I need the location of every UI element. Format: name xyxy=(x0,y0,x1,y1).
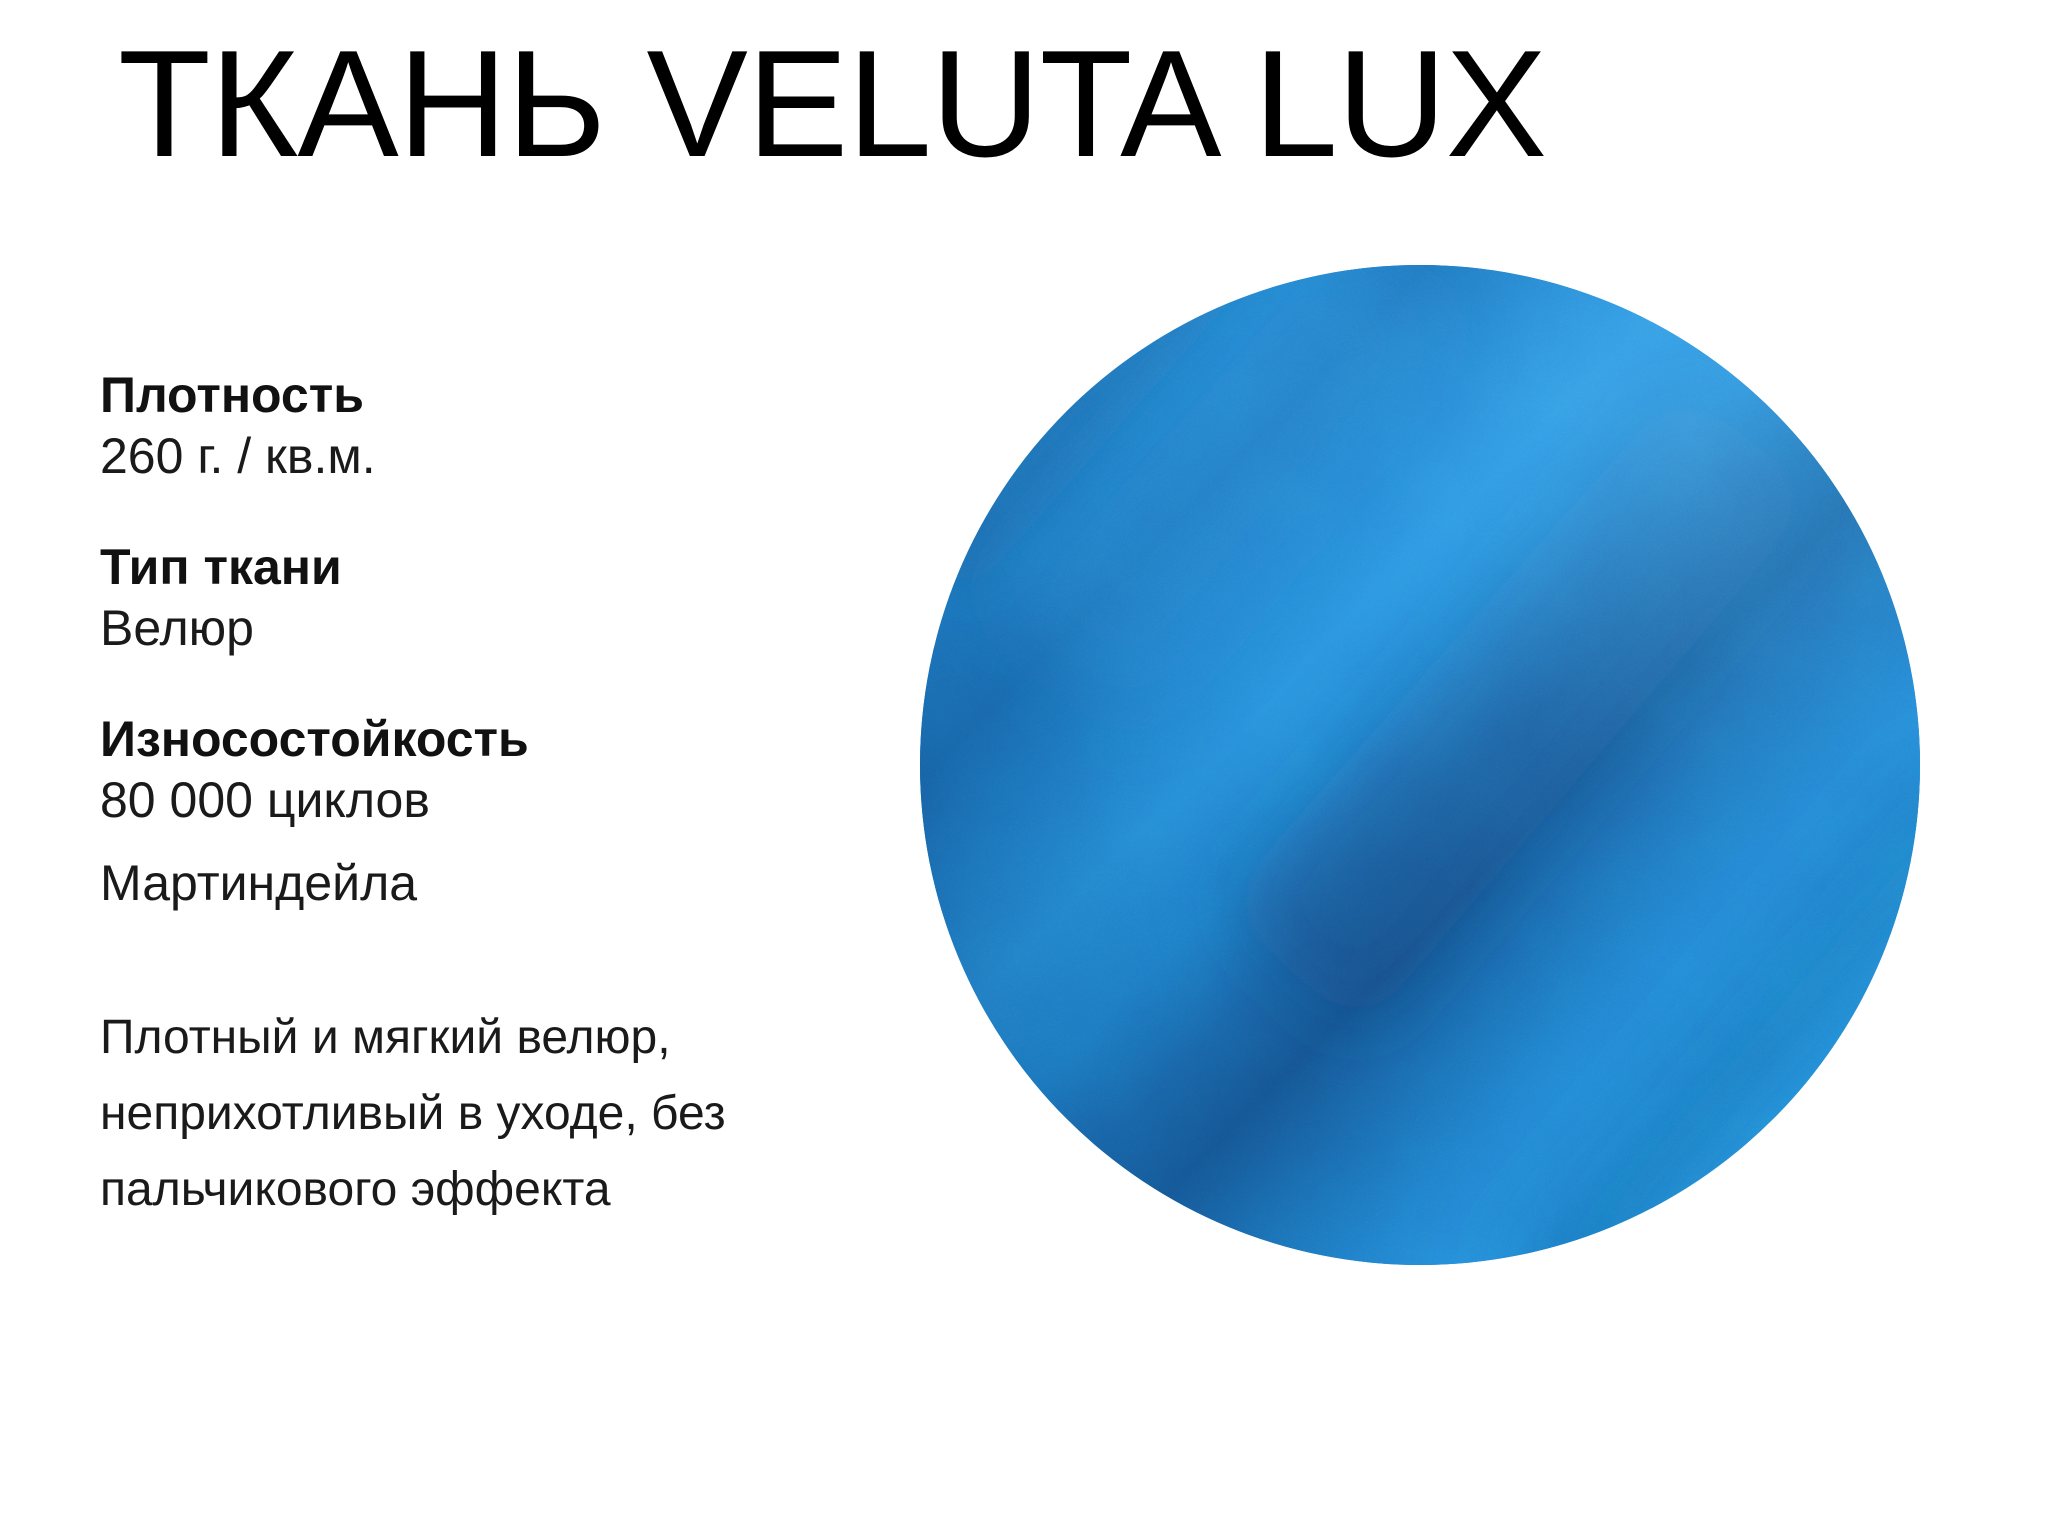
spec-label-fabric-type: Тип ткани xyxy=(100,537,860,598)
fabric-texture-graphic xyxy=(920,265,1920,1265)
spec-label-density: Плотность xyxy=(100,365,860,426)
page-title: ТКАНЬ VELUTA LUX xyxy=(118,28,1546,180)
spec-value-fabric-type: Велюр xyxy=(100,598,860,659)
fabric-description: Плотный и мягкий велюр, неприхотливый в … xyxy=(100,1000,930,1227)
spec-list: Плотность 260 г. / кв.м. Тип ткани Велюр… xyxy=(100,365,860,964)
spec-value-durability-standard: Мартиндейла xyxy=(100,853,860,914)
spec-block-density: Плотность 260 г. / кв.м. xyxy=(100,365,860,487)
spec-block-fabric-type: Тип ткани Велюр xyxy=(100,537,860,659)
fabric-spec-card: ТКАНЬ VELUTA LUX Плотность 260 г. / кв.м… xyxy=(0,0,2048,1536)
spec-value-durability-cycles: 80 000 циклов xyxy=(100,770,860,831)
fabric-photo-circle xyxy=(920,265,1920,1265)
spec-label-durability: Износостойкость xyxy=(100,709,860,770)
spec-block-durability: Износостойкость 80 000 циклов Мартиндейл… xyxy=(100,709,860,914)
spec-value-density: 260 г. / кв.м. xyxy=(100,426,860,487)
